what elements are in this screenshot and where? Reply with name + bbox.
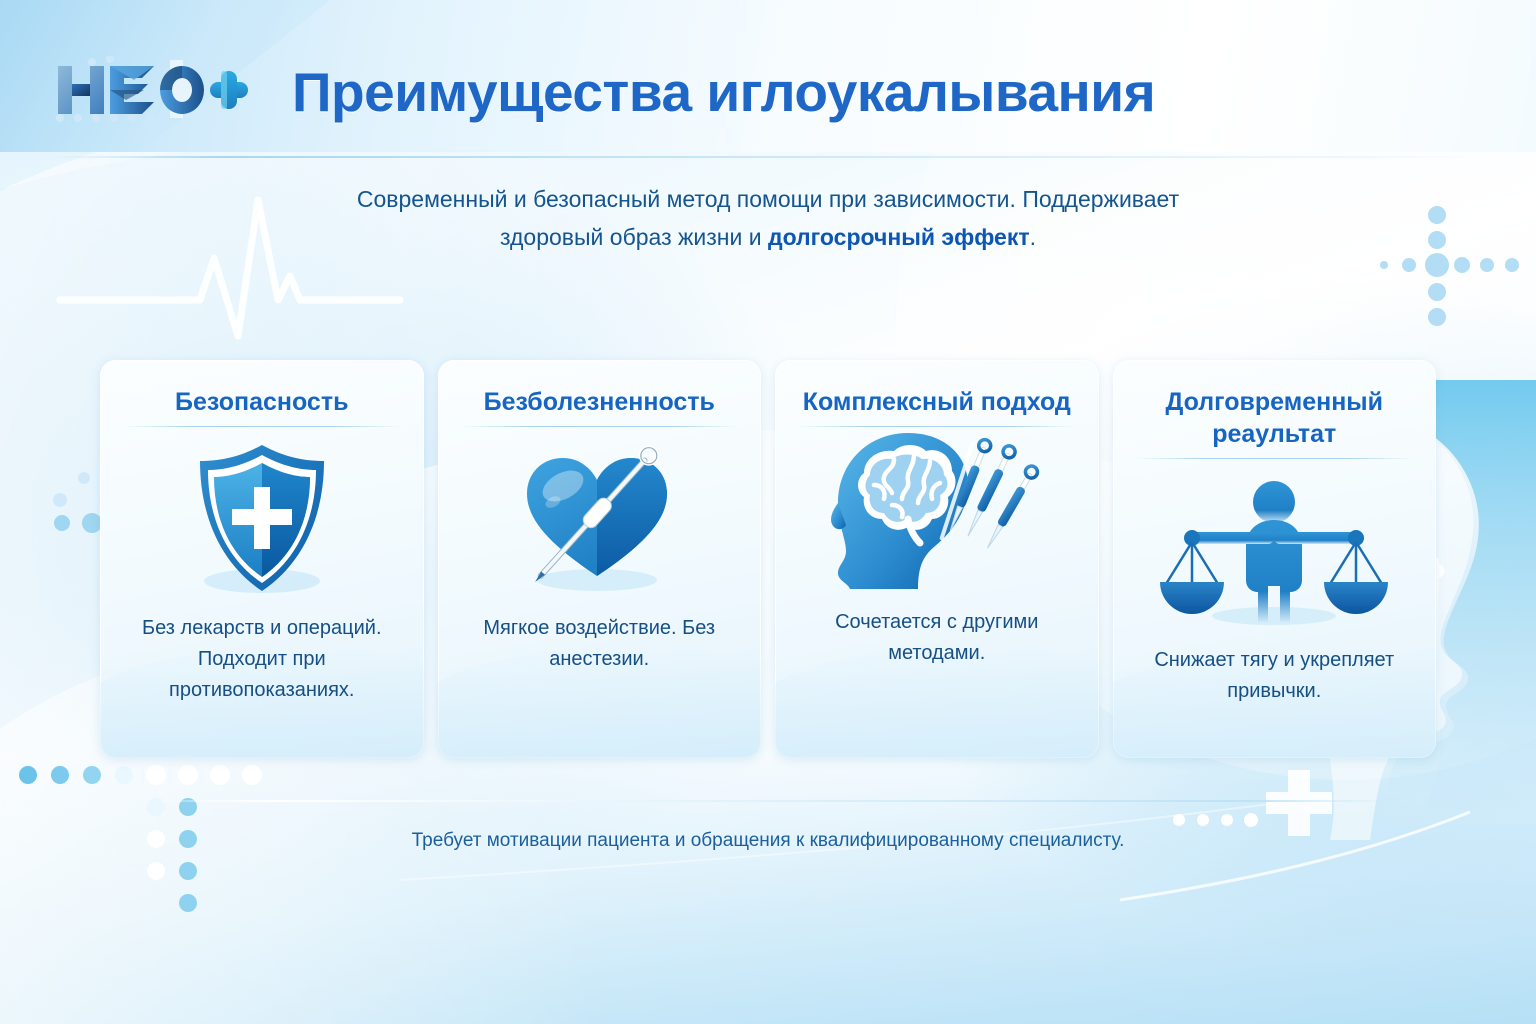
benefit-card-long-term-result[interactable]: Долговременный реаультат bbox=[1113, 360, 1437, 758]
dot-row-bottom-right bbox=[1173, 813, 1258, 827]
dot-accent-left-upper bbox=[53, 472, 90, 507]
person-scales-icon bbox=[1113, 463, 1437, 639]
footer-divider bbox=[150, 800, 1390, 802]
subtitle-line-1: Современный и безопасный метод помощи пр… bbox=[357, 186, 1179, 212]
dot-grid-pattern bbox=[19, 765, 262, 912]
subtitle-emphasis: долгосрочный эффект bbox=[768, 224, 1030, 250]
card-title: Безопасность bbox=[116, 386, 408, 418]
neo-plus-logo-icon bbox=[52, 56, 248, 124]
card-text: Без лекарств и операций. Подходит при пр… bbox=[114, 613, 410, 706]
header-divider bbox=[52, 156, 1484, 158]
card-title: Безболезненность bbox=[454, 386, 746, 418]
card-divider bbox=[122, 426, 402, 427]
subtitle: Современный и безопасный метод помощи пр… bbox=[268, 180, 1268, 256]
head-brain-needles-icon bbox=[775, 425, 1099, 601]
benefit-card-painless[interactable]: Безболезненность bbox=[438, 360, 762, 758]
benefit-card-safety[interactable]: Безопасность bbox=[100, 360, 424, 758]
dot-accent-left bbox=[54, 513, 102, 533]
footer-note: Требует мотивации пациента и обращения к… bbox=[268, 826, 1268, 856]
card-title: Комплексный подход bbox=[791, 386, 1083, 418]
benefit-cards: Безопасность bbox=[100, 360, 1436, 758]
card-divider bbox=[1135, 458, 1415, 459]
subtitle-line-2-prefix: здоровый образ жизни и bbox=[500, 224, 768, 250]
card-text: Сочетается с другими методами. bbox=[789, 607, 1085, 669]
plus-shape bbox=[1266, 770, 1332, 836]
benefit-card-complex-approach[interactable]: Комплексный подход bbox=[775, 360, 1099, 758]
card-title: Долговременный реаультат bbox=[1129, 386, 1421, 450]
dot-cross-pattern bbox=[1380, 206, 1519, 326]
card-text: Снижает тягу и укрепляет привычки. bbox=[1127, 645, 1423, 707]
heart-needle-icon bbox=[438, 431, 762, 607]
brand-logo[interactable] bbox=[52, 56, 248, 124]
page-title: Преимущества иглоукалывания bbox=[292, 56, 1232, 128]
header: Преимущества иглоукалывания bbox=[0, 0, 1536, 152]
subtitle-line-2-suffix: . bbox=[1030, 224, 1036, 250]
infographic-canvas: Преимущества иглоукалывания Современный … bbox=[0, 0, 1536, 1024]
card-divider bbox=[460, 426, 740, 427]
shield-cross-icon bbox=[100, 431, 424, 607]
card-text: Мягкое воздействие. Без анестезии. bbox=[452, 613, 748, 675]
